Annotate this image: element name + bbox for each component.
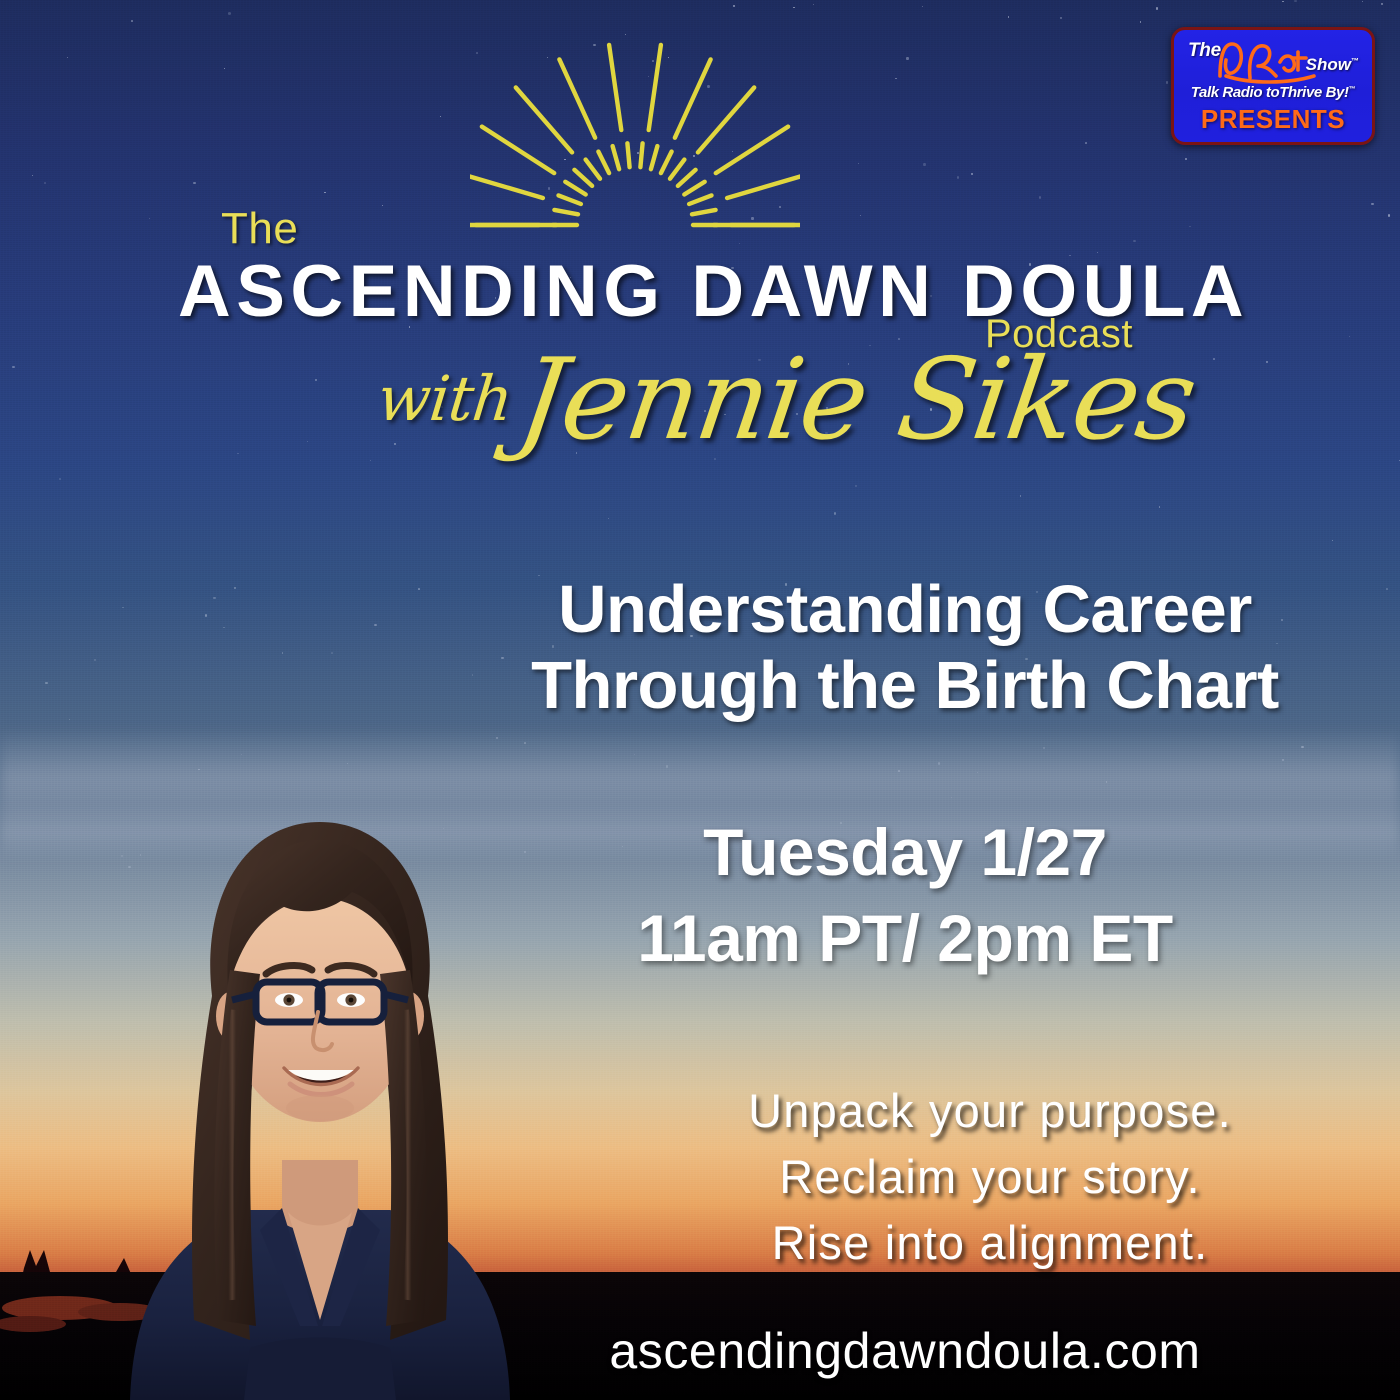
star (374, 624, 376, 626)
sunburst-ray-short (554, 210, 578, 214)
star (122, 607, 124, 609)
star (331, 652, 333, 654)
star (237, 453, 238, 454)
star (1140, 21, 1142, 23)
star (922, 6, 923, 7)
sunburst-ray-long (698, 88, 754, 153)
sunburst-ray-short (574, 170, 592, 186)
star (834, 512, 837, 515)
episode-title: Understanding Career Through the Birth C… (470, 572, 1340, 723)
sunburst-ray-long (727, 174, 800, 198)
sunburst-ray-short (661, 152, 672, 174)
star (12, 366, 14, 368)
star (666, 765, 669, 768)
star (1060, 17, 1062, 19)
star (59, 478, 62, 481)
sunburst-ray-short (651, 146, 658, 169)
star (193, 182, 195, 184)
star (951, 797, 952, 798)
star (923, 163, 926, 166)
sunburst-ray-short (689, 195, 711, 204)
star (282, 652, 283, 653)
sunburst-ray-short (598, 152, 609, 174)
star (67, 57, 68, 58)
star (733, 5, 735, 7)
badge-presents-label: PRESENTS (1174, 104, 1372, 135)
star (906, 57, 908, 59)
star (69, 719, 70, 720)
star (1266, 361, 1268, 363)
star (131, 20, 134, 23)
star (1282, 1, 1284, 3)
trademark-icon-2: ™ (1349, 86, 1356, 93)
star (1362, 1, 1363, 2)
star (524, 742, 526, 744)
star (1159, 506, 1160, 507)
star (1349, 336, 1351, 338)
star (1386, 588, 1388, 590)
episode-title-line-1: Understanding Career (470, 572, 1340, 648)
glasses-icon (232, 982, 408, 1022)
sunburst-ray-short (670, 160, 684, 179)
star (418, 588, 420, 590)
sunburst-ray-long (559, 59, 595, 137)
star (370, 460, 371, 461)
star (324, 192, 326, 194)
star (213, 597, 216, 600)
trademark-icon: ™ (1351, 56, 1359, 65)
star (307, 441, 308, 442)
badge-tagline: Talk Radio toThrive By!™ (1174, 84, 1372, 101)
star (1166, 81, 1168, 83)
star (813, 4, 814, 5)
sunburst-ray-short (565, 182, 585, 195)
sunburst-ray-long (470, 174, 543, 198)
sunburst-ray-long (716, 127, 788, 174)
star (1294, 0, 1296, 2)
brand-host-name: Jennie Sikes (511, 335, 1203, 465)
star (224, 68, 226, 70)
website-url[interactable]: ascendingdawndoula.com (470, 1322, 1340, 1380)
star (1106, 781, 1108, 783)
episode-schedule: Tuesday 1/27 11am PT/ 2pm ET (470, 810, 1340, 982)
dr-pat-signature-icon (1210, 36, 1320, 84)
star (860, 215, 861, 216)
star (895, 78, 897, 80)
sunburst-ray-short (678, 170, 696, 186)
star (1039, 196, 1041, 198)
tagline-line-2: Reclaim your story. (640, 1144, 1340, 1210)
sunburst-ray-short (586, 160, 600, 179)
star (44, 182, 46, 184)
star (1020, 495, 1022, 497)
star (855, 485, 857, 487)
star (149, 218, 150, 219)
badge-show-label: Show™ (1306, 55, 1359, 75)
sunburst-ray-short (627, 143, 629, 167)
star (898, 770, 900, 772)
star (228, 12, 231, 15)
brand-with-label: with (374, 362, 515, 435)
star (32, 175, 34, 177)
podcast-promo-poster: The ASCENDING DAWN DOULA Podcast with Je… (0, 0, 1400, 1400)
sunburst-ray-short (692, 210, 716, 214)
sunburst-ray-short (559, 195, 581, 204)
star (1282, 759, 1284, 761)
star (496, 737, 498, 739)
star (1301, 746, 1303, 748)
star (382, 205, 383, 206)
star (241, 754, 242, 755)
sunburst-icon (470, 22, 800, 237)
star (1213, 358, 1215, 360)
star (315, 379, 317, 381)
star (739, 243, 740, 244)
star (957, 176, 959, 178)
star (1388, 214, 1391, 217)
star (1381, 3, 1382, 4)
star (971, 173, 974, 176)
episode-date: Tuesday 1/27 (470, 810, 1340, 896)
star (205, 614, 208, 617)
sunburst-ray-long (675, 59, 711, 137)
star (94, 659, 96, 661)
star (394, 443, 396, 445)
star (440, 116, 441, 117)
star (1189, 226, 1191, 228)
sunburst-ray-short (613, 146, 620, 169)
star (977, 772, 978, 773)
star (1133, 240, 1136, 243)
star (1085, 142, 1087, 144)
star (1371, 203, 1374, 206)
star (858, 163, 859, 164)
star (1332, 540, 1334, 542)
sunburst-ray-short (640, 143, 642, 167)
star (223, 627, 224, 628)
sunburst-ray-long (649, 45, 661, 130)
star (634, 754, 635, 755)
star (1043, 747, 1045, 749)
host-portrait (60, 760, 580, 1400)
star (608, 518, 609, 519)
episode-title-line-2: Through the Birth Chart (470, 648, 1340, 724)
tagline-line-1: Unpack your purpose. (640, 1078, 1340, 1144)
star (234, 587, 236, 589)
sunburst-ray-long (482, 127, 554, 174)
sunburst-ray-short (684, 182, 704, 195)
star (45, 682, 47, 684)
star (1008, 16, 1009, 17)
brand-the-label: The (221, 204, 298, 254)
star (938, 762, 941, 765)
tagline-block: Unpack your purpose. Reclaim your story.… (640, 1078, 1340, 1275)
star (1156, 7, 1159, 10)
star (1185, 158, 1187, 160)
episode-time: 11am PT/ 2pm ET (470, 896, 1340, 982)
dr-pat-show-badge[interactable]: The Show™ Talk Radio toThrive By!™ PRESE… (1171, 27, 1375, 145)
star (793, 7, 794, 8)
tagline-line-3: Rise into alignment. (640, 1210, 1340, 1276)
sunburst-ray-long (516, 88, 572, 153)
sunburst-ray-long (609, 45, 621, 130)
